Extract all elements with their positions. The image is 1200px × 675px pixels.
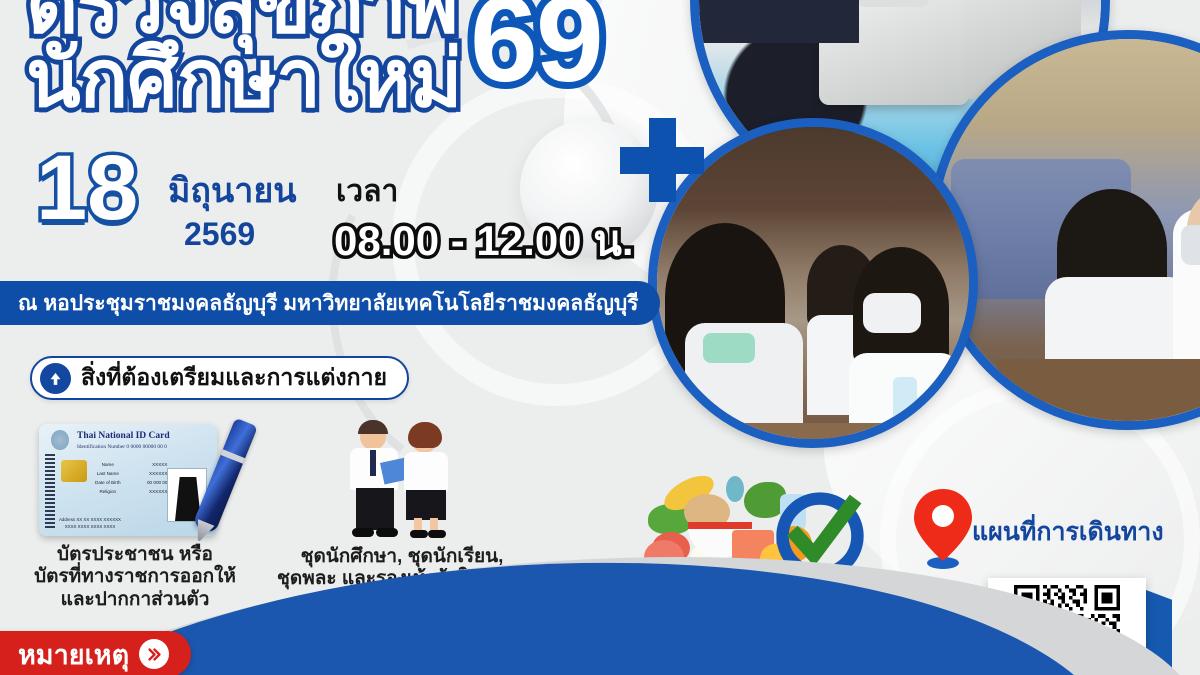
time-value: 08.00 - 12.00 น. bbox=[334, 208, 634, 274]
female-blouse bbox=[404, 452, 448, 492]
map-section-label[interactable]: แผนที่การเดินทาง bbox=[972, 512, 1164, 552]
venue-bar: ณ หอประชุมราชมงคลธัญบุรี มหาวิทยาลัยเทคโ… bbox=[0, 281, 660, 325]
female-shoe-left bbox=[410, 530, 428, 538]
medical-cross-icon bbox=[620, 118, 704, 202]
thai-national-id-card-icon: Thai National ID Card Identification Num… bbox=[35, 418, 235, 536]
chip-icon bbox=[61, 460, 87, 482]
id-card-title: Thai National ID Card bbox=[77, 431, 170, 441]
female-skirt bbox=[406, 490, 446, 520]
male-shoe-left bbox=[352, 528, 374, 537]
note-banner-label: หมายเหตุ bbox=[18, 633, 129, 675]
barcode-icon bbox=[45, 454, 55, 528]
id-address-line1: Address XX XX XXXX XXXXXX bbox=[59, 517, 121, 522]
arrow-up-icon bbox=[40, 363, 71, 394]
year-badge: 69 bbox=[470, 0, 602, 100]
double-chevron-right-icon bbox=[139, 639, 169, 669]
page-title: ตรวจสุขภาพ นักศึกษาใหม่ bbox=[26, 0, 462, 115]
prepare-item-id-card: Thai National ID Card Identification Num… bbox=[10, 418, 260, 611]
prepare-item-caption: บัตรประชาชน หรือ บัตรที่ทางราชการออกให้ … bbox=[10, 544, 260, 611]
garuda-emblem-icon bbox=[51, 430, 69, 450]
id-field-name: Name bbox=[95, 460, 121, 469]
id-field-dob: Date of Birth bbox=[95, 478, 121, 487]
id-address-line2: XXXX XXXX XXXX XXXX bbox=[65, 524, 116, 529]
student-uniform-people-icon bbox=[336, 418, 468, 540]
id-field-religion: Religion bbox=[95, 487, 121, 496]
note-banner: หมายเหตุ bbox=[0, 631, 191, 675]
female-shoe-right bbox=[428, 530, 446, 538]
event-month: มิถุนายน bbox=[168, 163, 297, 217]
bottle-icon bbox=[726, 476, 744, 502]
female-hair bbox=[408, 422, 442, 448]
prepare-section-label: สิ่งที่ต้องเตรียมและการแต่งกาย bbox=[81, 360, 387, 396]
male-shoe-right bbox=[376, 528, 398, 537]
headline-line-2: นักศึกษาใหม่ bbox=[26, 42, 462, 116]
venue-text: ณ หอประชุมราชมงคลธัญบุรี มหาวิทยาลัยเทคโ… bbox=[18, 287, 638, 320]
poster-canvas: ตรวจสุขภาพ นักศึกษาใหม่ 69 18 มิถุนายน 2… bbox=[0, 0, 1200, 675]
event-day: 18 bbox=[36, 145, 138, 232]
id-card-address: Address XX XX XXXX XXXXXX XXXX XXXX XXXX… bbox=[59, 516, 121, 530]
id-field-lastname: Last Name bbox=[95, 469, 121, 478]
male-hair bbox=[358, 420, 388, 434]
male-tie bbox=[370, 450, 376, 476]
red-map-pin-icon bbox=[912, 487, 974, 571]
prepare-section-pill: สิ่งที่ต้องเตรียมและการแต่งกาย bbox=[30, 356, 409, 400]
male-trousers bbox=[356, 488, 394, 530]
event-year: 2569 bbox=[184, 216, 255, 253]
id-card-fields: Name Last Name Date of Birth Religion bbox=[95, 460, 121, 496]
id-card-subtitle: Identification Number 0 0000 00000 00 0 bbox=[77, 444, 167, 450]
